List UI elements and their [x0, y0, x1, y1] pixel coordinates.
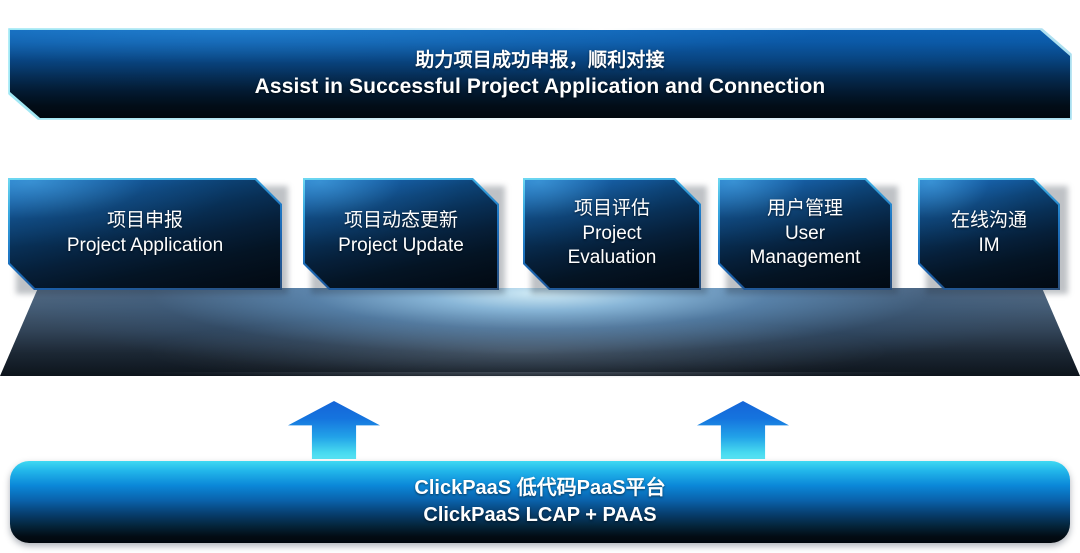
- feature-label-cn: 项目动态更新: [338, 209, 464, 234]
- feature-card-label: 在线沟通 IM: [941, 209, 1037, 258]
- feature-card-im[interactable]: 在线沟通 IM: [918, 178, 1060, 290]
- feature-label-cn: 项目评估: [568, 197, 657, 222]
- up-arrow-icon-left: [288, 401, 380, 459]
- feature-label-cn: 在线沟通: [951, 209, 1027, 234]
- banner-text-block: 助力项目成功申报，顺利对接 Assist in Successful Proje…: [255, 48, 826, 101]
- banner-title-en: Assist in Successful Project Application…: [255, 73, 826, 101]
- up-arrow-icon-right: [697, 401, 789, 459]
- feature-card-label: 项目申报 Project Application: [57, 209, 233, 258]
- feature-card-project-application[interactable]: 项目申报 Project Application: [8, 178, 282, 290]
- feature-label-cn: 用户管理: [750, 197, 861, 222]
- feature-label-en: Project Update: [338, 234, 464, 259]
- platform-bar[interactable]: ClickPaaS 低代码PaaS平台 ClickPaaS LCAP + PAA…: [10, 461, 1070, 543]
- banner-title-cn: 助力项目成功申报，顺利对接: [255, 48, 826, 73]
- feature-card-project-evaluation[interactable]: 项目评估 Project Evaluation: [523, 178, 701, 290]
- feature-label-cn: 项目申报: [67, 209, 223, 234]
- slide-canvas: 助力项目成功申报，顺利对接 Assist in Successful Proje…: [0, 0, 1080, 553]
- feature-card-user-management[interactable]: 用户管理 User Management: [718, 178, 892, 290]
- platform-title-cn: ClickPaaS 低代码PaaS平台: [414, 475, 665, 502]
- feature-label-en: User Management: [750, 222, 861, 271]
- feature-card-label: 项目评估 Project Evaluation: [558, 197, 667, 271]
- banner-face: 助力项目成功申报，顺利对接 Assist in Successful Proje…: [10, 30, 1070, 118]
- feature-label-en: Project Application: [67, 234, 223, 259]
- platform-title-en: ClickPaaS LCAP + PAAS: [414, 502, 665, 529]
- feature-card-project-update[interactable]: 项目动态更新 Project Update: [303, 178, 499, 290]
- feature-card-label: 用户管理 User Management: [740, 197, 871, 271]
- headline-banner: 助力项目成功申报，顺利对接 Assist in Successful Proje…: [8, 28, 1072, 120]
- platform-podium: [0, 288, 1080, 376]
- feature-label-en: Project Evaluation: [568, 222, 657, 271]
- feature-card-label: 项目动态更新 Project Update: [328, 209, 474, 258]
- feature-label-en: IM: [951, 234, 1027, 259]
- platform-bar-text-block: ClickPaaS 低代码PaaS平台 ClickPaaS LCAP + PAA…: [414, 475, 665, 529]
